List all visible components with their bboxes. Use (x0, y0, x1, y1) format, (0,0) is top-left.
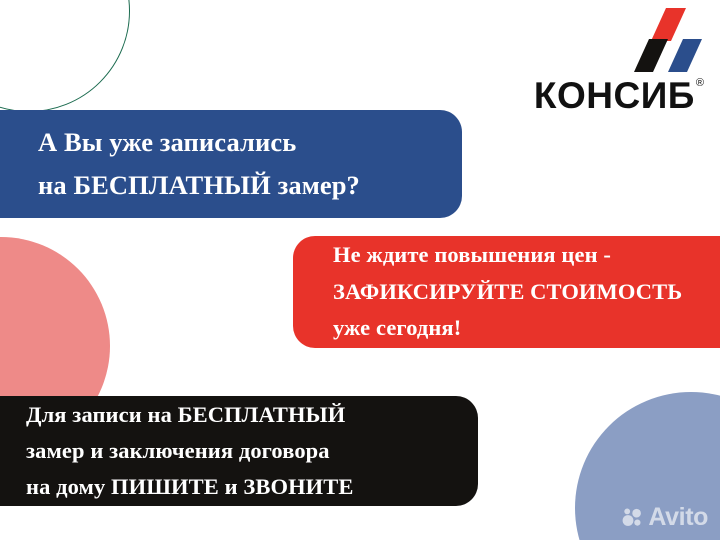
poster-canvas: КОНСИБ ® А Вы уже записались на БЕСПЛАТН… (0, 0, 720, 540)
banner-blue-line-2: на БЕСПЛАТНЫЙ замер? (38, 164, 462, 207)
banner-black-cta: Для записи на БЕСПЛАТНЫЙ замер и заключе… (0, 396, 478, 506)
banner-red-line-1: Не ждите повышения цен - (333, 237, 720, 273)
logo-wordmark-row: КОНСИБ ® (524, 77, 704, 114)
logo-mark-icon (630, 8, 704, 76)
avito-wordmark: Avito (648, 505, 708, 530)
registered-trademark-symbol: ® (696, 78, 704, 89)
teal-ring-decoration (0, 0, 130, 112)
brand-logo: КОНСИБ ® (524, 8, 704, 114)
banner-black-line-2: замер и заключения договора (26, 433, 478, 469)
avito-watermark: Avito (622, 505, 708, 530)
banner-red-line-3: уже сегодня! (333, 310, 720, 346)
banner-black-line-3: на дому ПИШИТЕ и ЗВОНИТЕ (26, 469, 478, 505)
banner-black-line-1: Для записи на БЕСПЛАТНЫЙ (26, 397, 478, 433)
logo-wordmark: КОНСИБ (534, 77, 695, 114)
banner-red-urgency: Не ждите повышения цен - ЗАФИКСИРУЙТЕ СТ… (293, 236, 720, 348)
banner-blue-line-1: А Вы уже записались (38, 121, 462, 164)
banner-blue-headline: А Вы уже записались на БЕСПЛАТНЫЙ замер? (0, 110, 462, 218)
banner-red-line-2: ЗАФИКСИРУЙТЕ СТОИМОСТЬ (333, 274, 720, 310)
avito-dots-icon (622, 507, 643, 528)
